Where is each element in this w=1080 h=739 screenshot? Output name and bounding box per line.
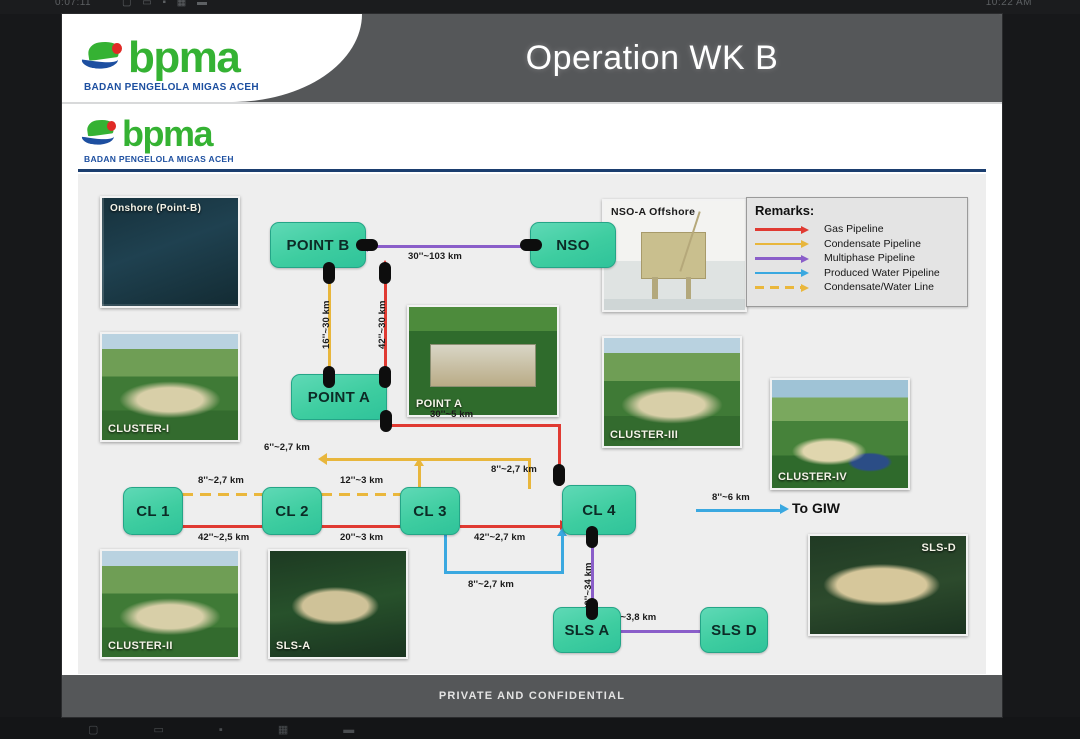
arrow-cl4-pointa-cond	[318, 453, 327, 465]
taskbar-icons[interactable]: ▢ ▭ ▪ ▦ ▬	[88, 723, 380, 736]
confidential-notice: PRIVATE AND CONFIDENTIAL	[439, 690, 625, 702]
bpma-mark-icon	[82, 41, 128, 75]
arrow-cl3-riser-cond	[414, 458, 424, 466]
valve-pointb-south-right	[379, 262, 391, 284]
node-cl2[interactable]: CL 2	[262, 487, 322, 535]
valve-cl4-south	[586, 526, 598, 548]
condensate-line-icon	[755, 239, 817, 249]
node-point-b[interactable]: POINT B	[270, 222, 366, 268]
bpma-tagline-2: BADAN PENGELOLA MIGAS ACEH	[84, 154, 234, 164]
valve-pointa-north-right	[379, 366, 391, 388]
pipe-cl4-pointa-gas-h	[385, 424, 561, 427]
valve-cl4-north	[553, 464, 565, 486]
pipeline-diagram: Onshore (Point-B) CLUSTER-I POINT A NSO-…	[78, 174, 986, 674]
photo-onshore-point-b: Onshore (Point-B)	[100, 196, 240, 308]
node-nso[interactable]: NSO	[530, 222, 616, 268]
photo-caption: Onshore (Point-B)	[110, 203, 201, 214]
valve-pointa-north-left	[323, 366, 335, 388]
pipe-cl3-cl4-water-v2	[561, 536, 564, 574]
legend-item-condensate: Condensate Pipeline	[747, 237, 967, 252]
gas-line-icon	[755, 224, 817, 234]
label-cl2-cl3-cond: 12''~3 km	[340, 475, 383, 486]
valve-pointb-south-left	[323, 262, 335, 284]
bpma-logo-header: bpma BADAN PENGELOLA MIGAS ACEH	[82, 36, 259, 93]
header-divider	[62, 102, 1002, 104]
label-pointa-pointb-gas: 42''~30 km	[377, 300, 388, 349]
bpma-mark-icon-2	[82, 119, 122, 149]
bpma-wordmark: bpma	[128, 36, 239, 80]
node-cl1[interactable]: CL 1	[123, 487, 183, 535]
label-cl4-to-giw: 8''~6 km	[712, 492, 750, 503]
valve-nso-west	[520, 239, 542, 251]
node-point-a[interactable]: POINT A	[291, 374, 387, 420]
pipe-cl3-cl4-water-h	[444, 571, 564, 574]
multiphase-line-icon	[755, 253, 817, 263]
legend-item-multiphase: Multiphase Pipeline	[747, 251, 967, 266]
system-clock: 10:22 AM	[986, 0, 1032, 8]
pipe-cl4-pointa-cond-h	[326, 458, 531, 461]
photo-cluster-iii: CLUSTER-III	[602, 336, 742, 448]
body-divider	[78, 169, 986, 172]
label-cl4-pointa-gas: 30''~5 km	[430, 409, 473, 420]
label-cl1-cl2-cond: 8''~2,7 km	[198, 475, 244, 486]
photo-sls-a: SLS-A	[268, 549, 408, 659]
elapsed-time: 0:07:11	[55, 0, 91, 8]
node-cl3[interactable]: CL 3	[400, 487, 460, 535]
screen-recorder-bar: 0:07:11 ▢ ▭ ▪ ▦ ▬ 10:22 AM	[0, 0, 1080, 14]
valve-pointa-south	[380, 410, 392, 432]
photo-caption: CLUSTER-III	[610, 429, 678, 441]
bpma-logo-body: bpma BADAN PENGELOLA MIGAS ACEH	[82, 116, 234, 164]
bpma-tagline: BADAN PENGELOLA MIGAS ACEH	[84, 82, 259, 93]
recorder-controls[interactable]: ▢ ▭ ▪ ▦ ▬	[122, 0, 211, 8]
arrow-cl4-to-giw	[780, 504, 789, 514]
condensate-water-dashed-icon	[755, 282, 817, 292]
legend-label: Condensate Pipeline	[824, 238, 921, 250]
slide-footer: PRIVATE AND CONFIDENTIAL	[62, 675, 1002, 717]
label-cl3-cl4-water: 8''~2,7 km	[468, 579, 514, 590]
legend-remarks: Remarks: Gas Pipeline Condensate Pipelin…	[746, 197, 968, 307]
label-cl4-pointa-cond: 6''~2,7 km	[264, 442, 310, 453]
label-cl2-cl3-gas: 20''~3 km	[340, 532, 383, 543]
photo-point-a: POINT A	[407, 305, 559, 417]
node-to-giw-label: To GIW	[792, 500, 840, 516]
label-nso-pointb: 30''~103 km	[408, 251, 462, 262]
legend-label: Gas Pipeline	[824, 223, 884, 235]
legend-label: Multiphase Pipeline	[824, 252, 915, 264]
legend-label: Condensate/Water Line	[824, 281, 934, 293]
photo-cluster-iv: CLUSTER-IV	[770, 378, 910, 490]
photo-caption: NSO-A Offshore	[611, 206, 695, 218]
photo-sls-d: SLS-D	[808, 534, 968, 636]
water-line-icon	[755, 268, 817, 278]
legend-item-produced-water: Produced Water Pipeline	[747, 266, 967, 281]
pipe-cl4-to-giw	[696, 509, 782, 512]
legend-item-gas: Gas Pipeline	[747, 222, 967, 237]
legend-title: Remarks:	[755, 203, 967, 218]
photo-caption: SLS-D	[922, 542, 957, 554]
photo-caption: SLS-A	[276, 640, 311, 652]
taskbar: ▢ ▭ ▪ ▦ ▬	[0, 717, 1080, 739]
label-cl1-cl2-gas: 42''~2,5 km	[198, 532, 249, 543]
node-sls-d[interactable]: SLS D	[700, 607, 768, 653]
node-cl4[interactable]: CL 4	[562, 485, 636, 535]
pipe-nso-to-pointb	[365, 245, 530, 248]
label-cl3-cl4-gas: 42''~2,7 km	[474, 532, 525, 543]
pipe-cl3-cl4-gas	[460, 525, 562, 528]
page-title: Operation WK B	[302, 14, 1002, 102]
bpma-wordmark-2: bpma	[122, 116, 212, 152]
label-pointa-pointb-condensate: 16''~30 km	[321, 300, 332, 349]
legend-item-condensate-water: Condensate/Water Line	[747, 280, 967, 295]
photo-caption: CLUSTER-II	[108, 640, 173, 652]
valve-slsa-north	[586, 598, 598, 620]
photo-cluster-i: CLUSTER-I	[100, 332, 240, 442]
photo-cluster-ii: CLUSTER-II	[100, 549, 240, 659]
photo-nso-a-offshore: NSO-A Offshore	[602, 199, 747, 312]
photo-caption: CLUSTER-I	[108, 423, 169, 435]
presentation-slide: Operation WK B bpma BADAN PENGELOLA MIGA…	[62, 14, 1002, 717]
valve-pointb-east	[356, 239, 378, 251]
photo-caption: CLUSTER-IV	[778, 471, 847, 483]
label-cl3-cl4-cond: 8''~2,7 km	[491, 464, 537, 475]
legend-label: Produced Water Pipeline	[824, 267, 940, 279]
